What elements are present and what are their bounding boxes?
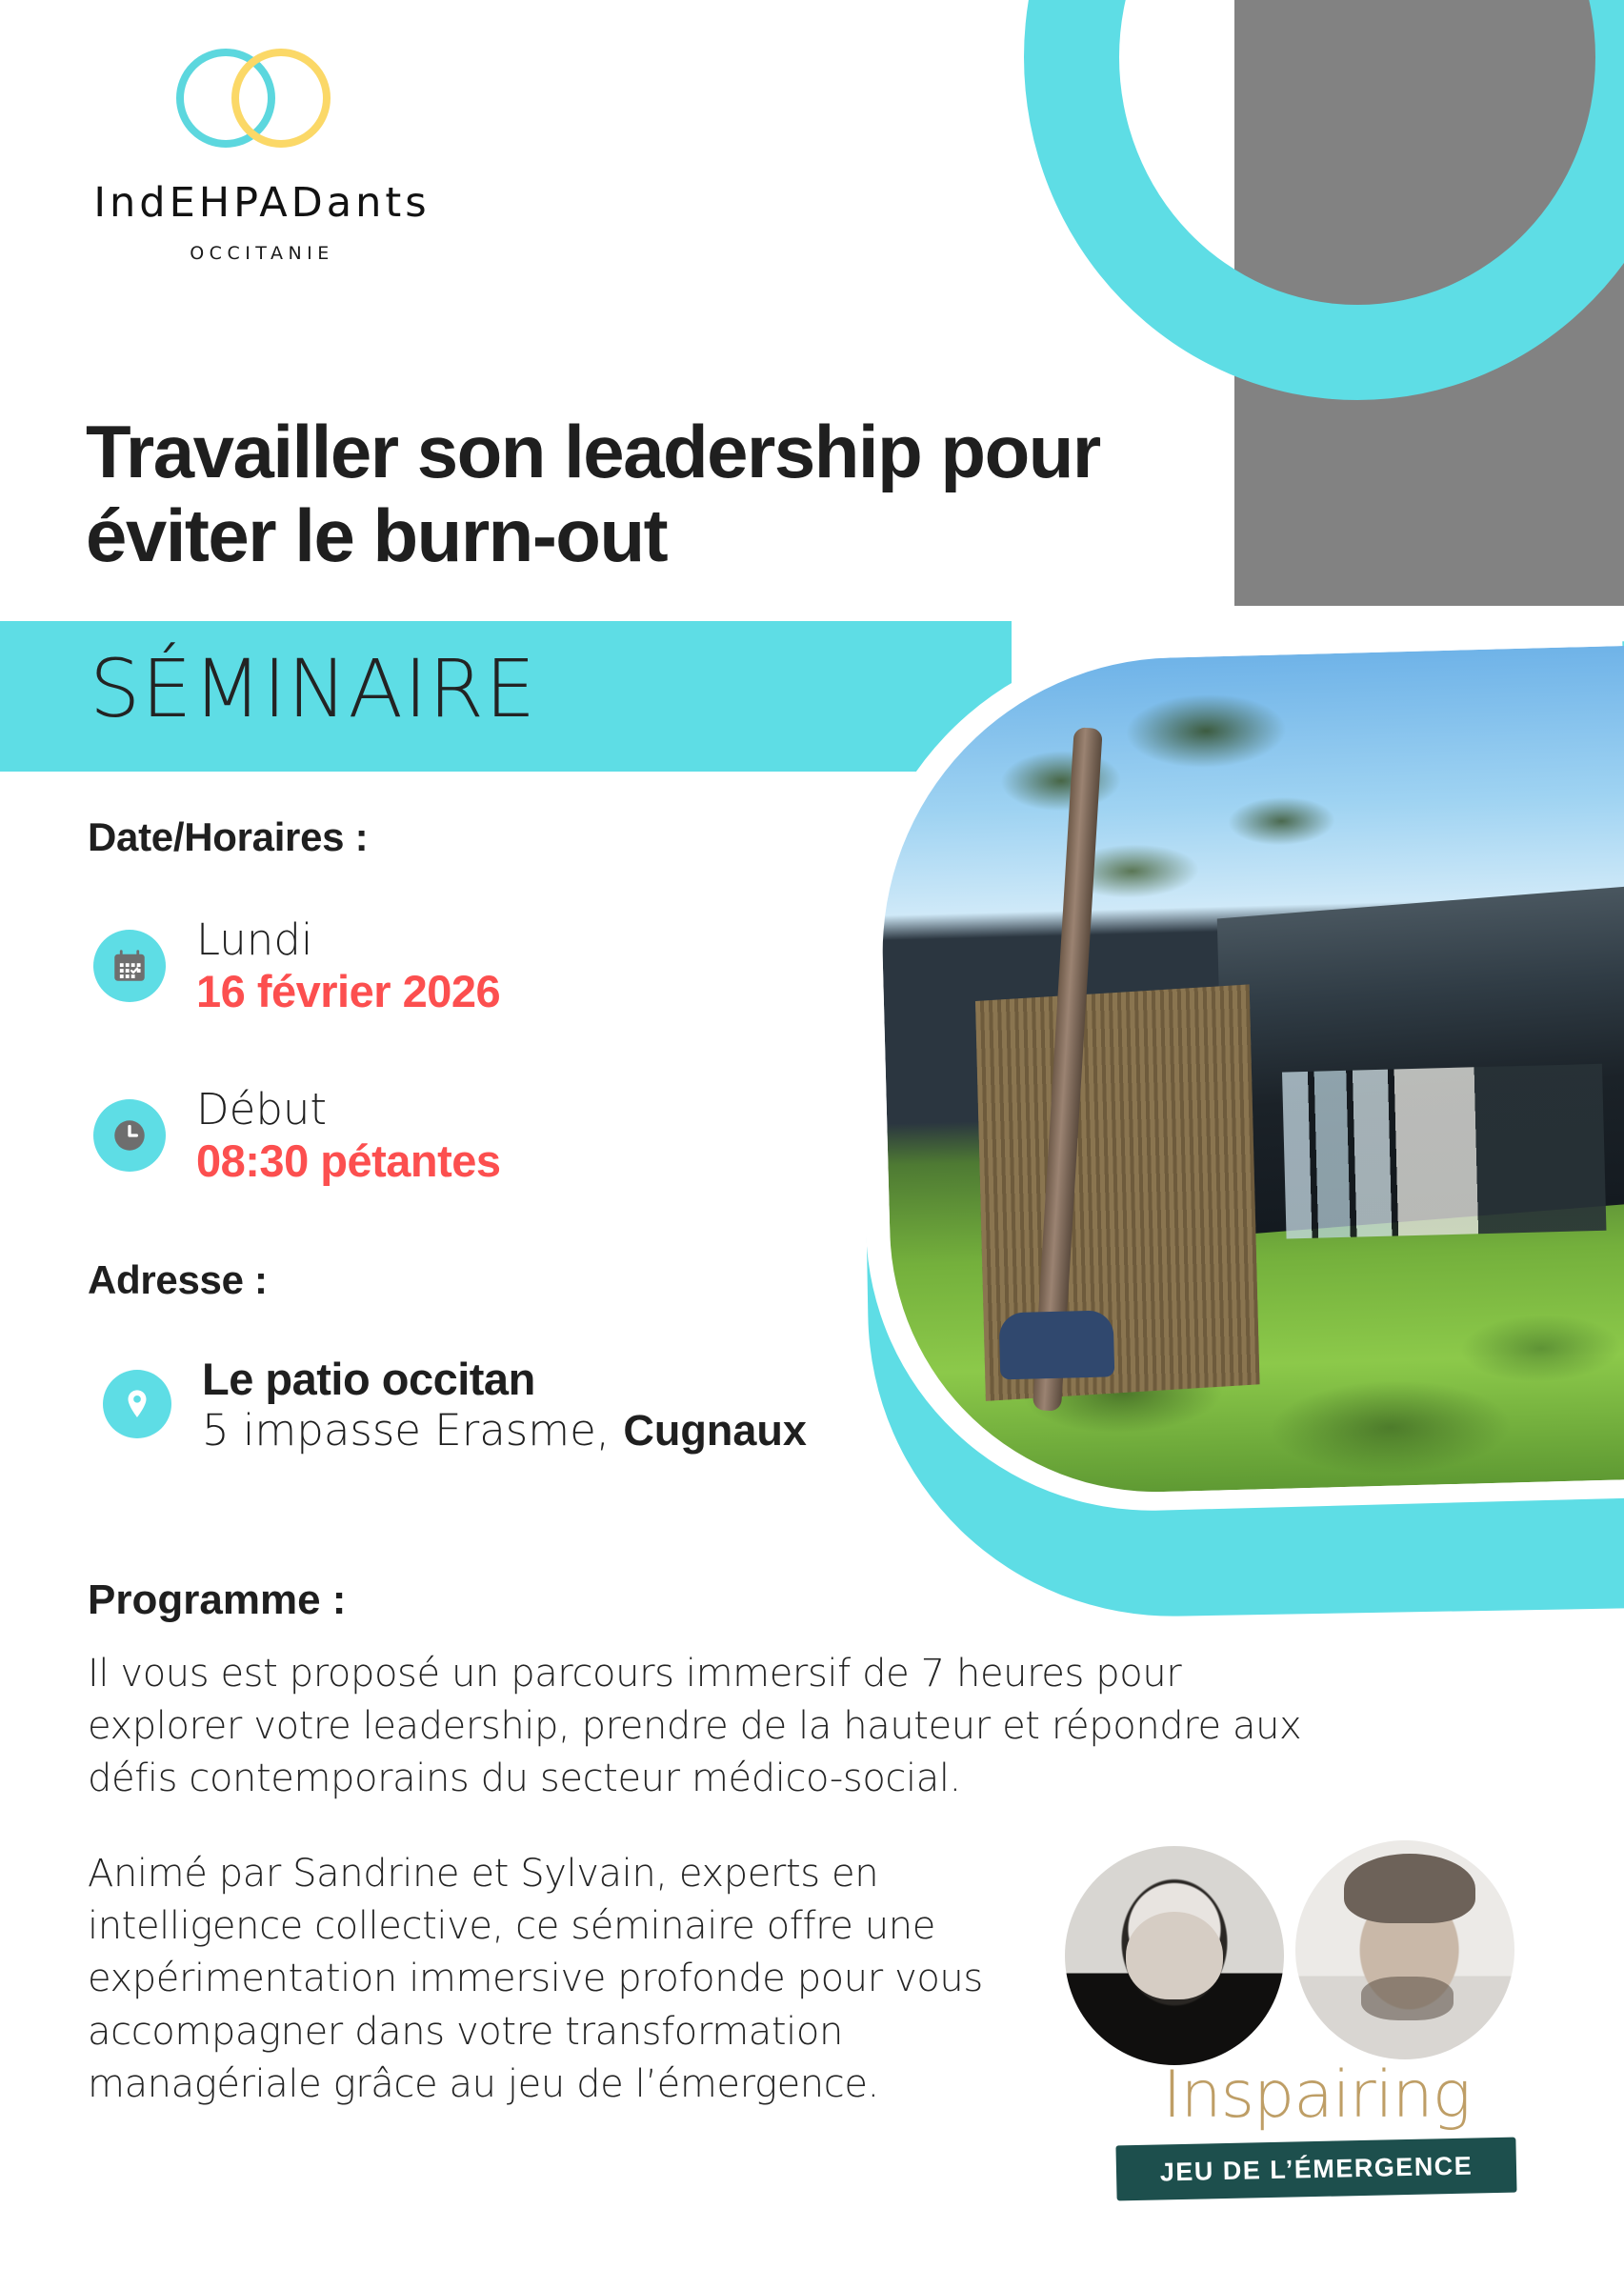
photo-tree-foliage	[920, 646, 1387, 1014]
poster: IndEHPADants OCCITANIE Travailler son le…	[0, 0, 1624, 2289]
address-row: Le patio occitan 5 impasse Erasme, Cugna…	[103, 1353, 807, 1456]
avatar-sandrine	[1065, 1846, 1284, 2065]
partner-name: Inspairing	[1116, 2063, 1516, 2128]
programme-paragraph-2: Animé par Sandrine et Sylvain, experts e…	[88, 1848, 1050, 2111]
venue-photo	[875, 646, 1624, 1499]
venue-name: Le patio occitan	[202, 1353, 807, 1405]
partner-logo: Inspairing JEU DE L’ÉMERGENCE	[1116, 2063, 1516, 2197]
logo-ring-yellow	[231, 49, 331, 148]
clock-icon	[93, 1099, 166, 1172]
brand-logo: IndEHPADants OCCITANIE	[52, 46, 471, 264]
date-row-text: Lundi 16 février 2026	[196, 914, 500, 1018]
date-row: Lundi 16 février 2026	[93, 914, 500, 1018]
address-section-label: Adresse :	[88, 1257, 268, 1303]
logo-region: OCCITANIE	[52, 243, 471, 264]
page-title: Travailler son leadership pour éviter le…	[86, 410, 1210, 577]
logo-name: IndEHPADants	[52, 183, 471, 224]
address-row-text: Le patio occitan 5 impasse Erasme, Cugna…	[202, 1353, 807, 1456]
photo-armchair	[999, 1310, 1115, 1379]
date-section-label: Date/Horaires :	[88, 814, 368, 860]
date-day: Lundi	[196, 914, 500, 965]
cyan-arc-decoration	[1024, 0, 1624, 400]
partner-tagline: JEU DE L’ÉMERGENCE	[1115, 2138, 1516, 2201]
map-pin-icon	[103, 1370, 171, 1438]
time-row-text: Début 08:30 pétantes	[196, 1084, 501, 1188]
photo-windows	[1282, 1063, 1606, 1238]
programme-paragraph-1: Il vous est proposé un parcours immersif…	[88, 1648, 1335, 1806]
logo-rings-icon	[176, 46, 348, 151]
street-address: 5 impasse Erasme, Cugnaux	[202, 1405, 807, 1456]
avatar-sylvain	[1295, 1840, 1514, 2059]
time-label: Début	[196, 1084, 501, 1134]
venue-photo-image	[875, 646, 1624, 1499]
street-line: 5 impasse Erasme,	[202, 1405, 623, 1456]
time-row: Début 08:30 pétantes	[93, 1084, 501, 1188]
city-name: Cugnaux	[623, 1406, 807, 1455]
programme-section-label: Programme :	[88, 1576, 346, 1624]
seminar-band-label: SÉMINAIRE	[90, 641, 536, 737]
calendar-icon	[93, 930, 166, 1002]
date-value: 16 février 2026	[196, 965, 500, 1017]
time-value: 08:30 pétantes	[196, 1134, 501, 1187]
